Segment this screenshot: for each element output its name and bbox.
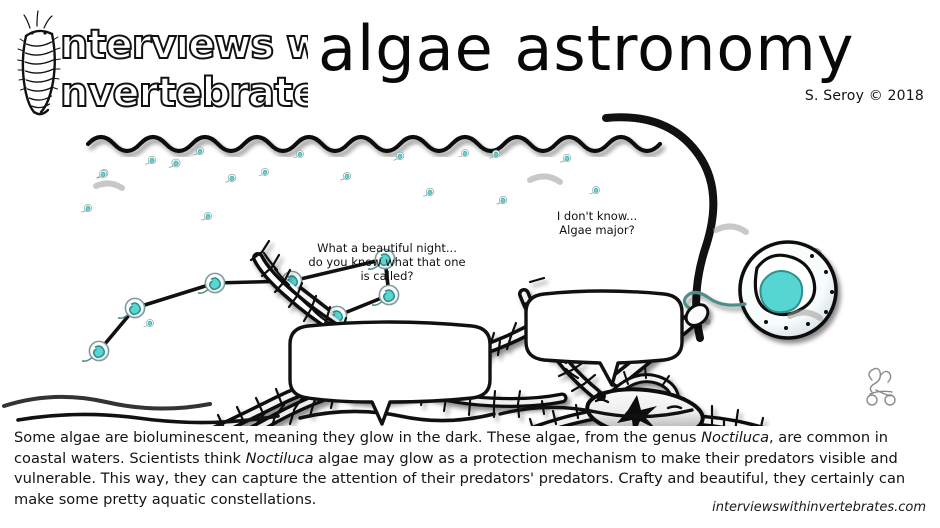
- scene-artwork: [0, 108, 940, 426]
- constellation-star-2: [198, 273, 225, 293]
- speech-bubble-left: [290, 322, 490, 424]
- caption-genus-2: Noctiluca: [246, 450, 314, 467]
- caterpillar-icon: [18, 11, 61, 114]
- comic-panel: ntervıews wıth nvertebrates interviews w…: [0, 0, 940, 528]
- title-artwork: algae astronomy: [310, 8, 930, 90]
- constellation-line: [135, 283, 215, 308]
- logo-line1: ntervıews wıth: [60, 22, 308, 68]
- constellation-star-1: [118, 298, 145, 318]
- water-surface-line: [88, 137, 660, 151]
- constellation-star-0: [82, 341, 109, 361]
- copyright-credit: S. Seroy © 2018: [805, 88, 924, 104]
- site-logo[interactable]: ntervıews wıth nvertebrates interviews w…: [8, 6, 308, 118]
- title-label: algae astronomy: [318, 12, 854, 85]
- caption-genus-1: Noctiluca: [701, 429, 769, 446]
- speech-bubble-right: [526, 291, 682, 385]
- caption-paragraph: Some algae are bioluminescent, meaning t…: [14, 428, 930, 510]
- constellation-star-5: [368, 249, 395, 269]
- website-url[interactable]: interviewswithinvertebrates.com: [712, 500, 926, 515]
- comic-scene: [0, 108, 940, 426]
- brittle-star-right-arm-right: [690, 406, 874, 426]
- constellation-line: [292, 259, 385, 281]
- brittle-star-right-disc: [585, 384, 705, 426]
- comic-title: algae astronomy: [310, 8, 930, 90]
- artist-signature: [867, 368, 895, 405]
- caption-part1: Some algae are bioluminescent, meaning t…: [14, 429, 701, 446]
- logo-artwork: ntervıews wıth nvertebrates: [8, 6, 308, 118]
- constellation-star-6: [372, 285, 399, 305]
